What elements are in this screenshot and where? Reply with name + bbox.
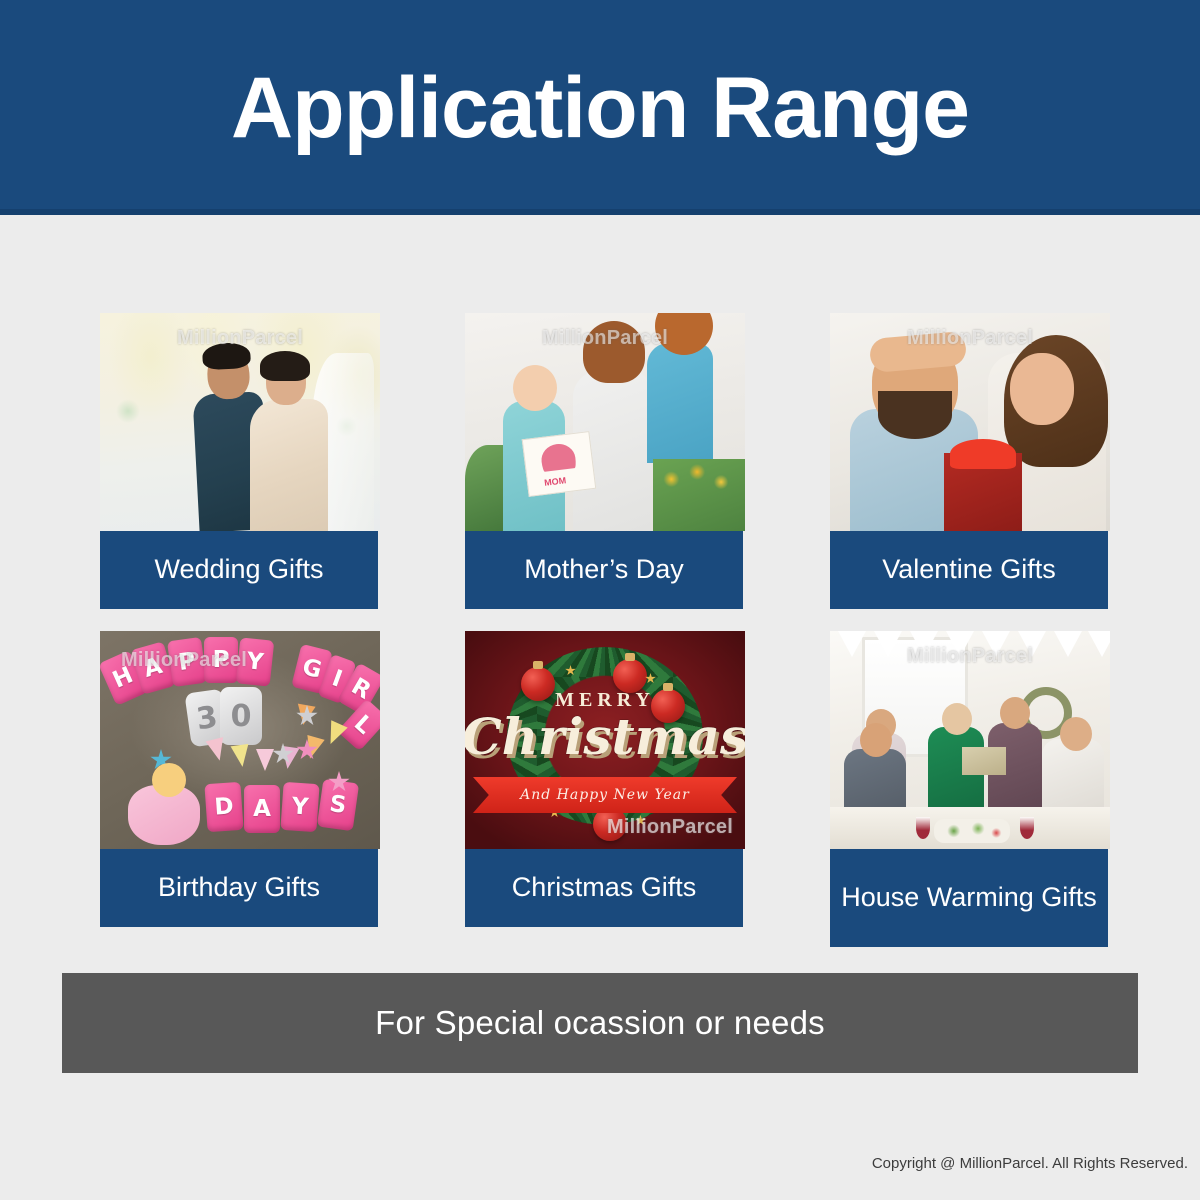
bunting-flag-2 (874, 631, 902, 657)
bunting-flag-3 (256, 749, 274, 771)
balloon-number-0: 0 (220, 687, 262, 745)
balloon-letter-y2: Y (280, 782, 319, 832)
bunting-flag-4 (946, 631, 974, 657)
christmas-script-text: Christmas (465, 707, 745, 766)
bunting-flag-5 (982, 631, 1010, 657)
new-year-ribbon-text: And Happy New Year (520, 787, 690, 803)
balloon-letter-a2: A (244, 785, 280, 833)
card-label-mothers-day: Mother’s Day (465, 531, 743, 609)
card-label-wedding-gifts: Wedding Gifts (100, 531, 378, 609)
card-label-house-warming-gifts: House Warming Gifts (830, 849, 1108, 947)
page-header: Application Range (0, 0, 1200, 215)
guest-head-3 (1000, 697, 1030, 729)
page-title: Application Range (231, 65, 969, 151)
special-occasion-banner-text: For Special ocassion or needs (375, 1004, 825, 1042)
category-card-christmas-gifts[interactable]: MERRY Christmas And Happy New Year Milli… (465, 631, 745, 947)
category-card-house-warming-gifts[interactable]: MillionParcel House Warming Gifts (830, 631, 1110, 947)
toy-baby-head (152, 763, 186, 797)
wine-glass-2 (1020, 817, 1034, 839)
category-card-valentine-gifts[interactable]: MillionParcel Valentine Gifts (830, 313, 1110, 609)
bauble-left (521, 667, 555, 701)
balloon-letter-d: D (204, 782, 243, 832)
salad-bowl (934, 819, 1010, 843)
category-card-mothers-day[interactable]: MillionParcel Mother’s Day (465, 313, 745, 609)
guest-head-4 (1060, 717, 1092, 751)
man-beard (878, 391, 952, 439)
bunting-flag-8 (1088, 631, 1110, 657)
card-label-valentine-gifts: Valentine Gifts (830, 531, 1108, 609)
wedding-gifts-image: MillionParcel (100, 313, 380, 531)
category-card-grid: MillionParcel Wedding Gifts MillionParce… (100, 313, 1112, 947)
gift-box (962, 747, 1006, 775)
bunting-flag-2 (231, 744, 252, 768)
category-card-birthday-gifts[interactable]: H A P P Y G I R L 3 0 D A Y S (100, 631, 380, 947)
special-occasion-banner: For Special ocassion or needs (62, 973, 1138, 1073)
decor-tulips (653, 459, 745, 531)
copyright-text: Copyright @ MillionParcel. All Rights Re… (872, 1155, 1188, 1172)
woman-face (1010, 353, 1074, 425)
card-label-birthday-gifts: Birthday Gifts (100, 849, 378, 927)
bauble-top (613, 659, 647, 693)
gift-bag-ribbon (950, 439, 1016, 469)
mothers-day-image: MillionParcel (465, 313, 745, 531)
birthday-gifts-image: H A P P Y G I R L 3 0 D A Y S (100, 631, 380, 849)
wine-glass-1 (916, 817, 930, 839)
balloon-letter-p2: P (204, 637, 238, 683)
bunting-flag-3 (910, 631, 938, 657)
category-card-wedding-gifts[interactable]: MillionParcel Wedding Gifts (100, 313, 380, 609)
daughter-figure (647, 343, 713, 463)
new-year-ribbon: And Happy New Year (473, 777, 737, 813)
host-head (942, 703, 972, 735)
handmade-mom-card (522, 431, 597, 497)
valentine-gifts-image: MillionParcel (830, 313, 1110, 531)
bride-figure (250, 399, 328, 531)
christmas-gifts-image: MERRY Christmas And Happy New Year Milli… (465, 631, 745, 849)
guest-head-2 (860, 723, 892, 757)
house-warming-gifts-image: MillionParcel (830, 631, 1110, 849)
bunting-flag-1 (838, 631, 866, 657)
mother-hair (583, 321, 645, 383)
card-label-christmas-gifts: Christmas Gifts (465, 849, 743, 927)
bunting-flag-6 (1018, 631, 1046, 657)
balloon-letter-y: Y (236, 637, 275, 686)
bunting-flag-7 (1054, 631, 1082, 657)
balloon-letter-p1: P (167, 637, 207, 687)
